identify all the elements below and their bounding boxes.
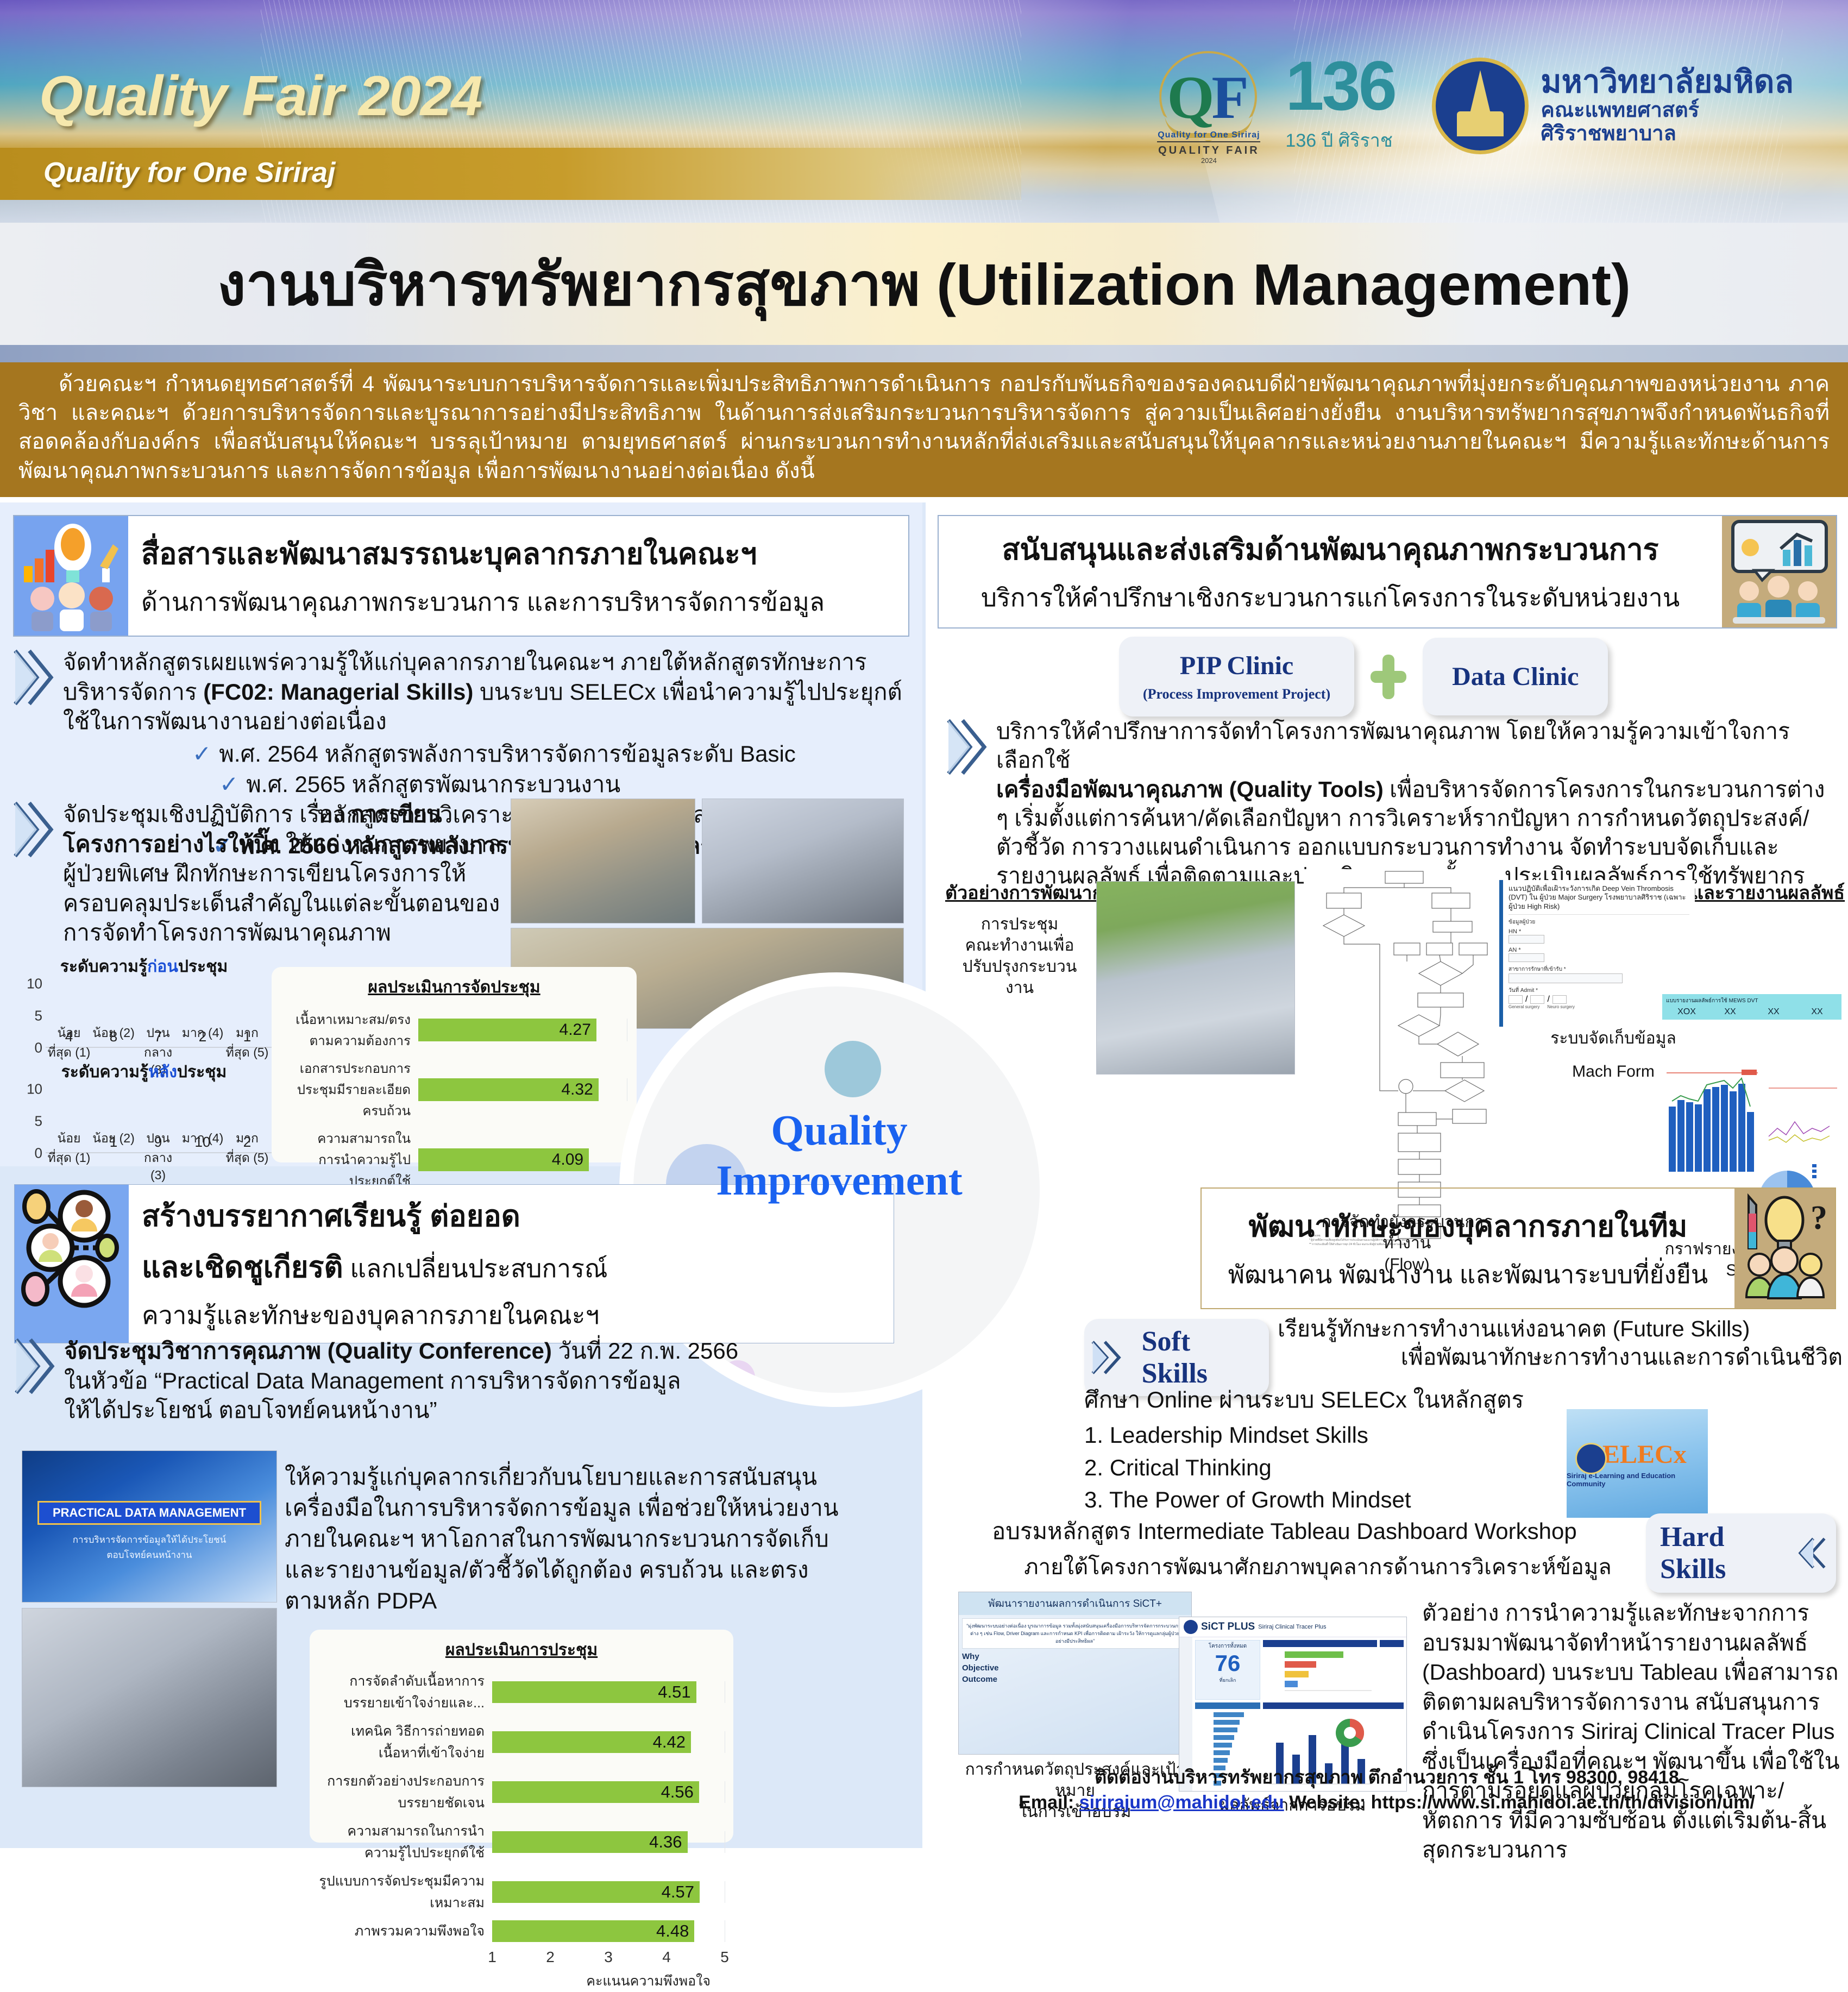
bar-value-label: 4.56 (661, 1782, 694, 1802)
tr-header-wrap: สนับสนุนและส่งเสริมด้านพัฒนาคุณภาพกระบวน… (938, 515, 1837, 629)
bar-value-label: 4.57 (662, 1882, 694, 1902)
bar: 4.51 (492, 1681, 696, 1703)
section-title: พัฒนาทักษะของบุคลากรภายในทีม (1249, 1203, 1688, 1249)
section-header-communication: สื่อสารและพัฒนาสมรรถนะบุคลากรภายในคณะฯ ด… (13, 515, 909, 637)
footer-email-link[interactable]: sirirajum@mahidol.edu (1079, 1792, 1284, 1813)
bar: 4.32 (418, 1078, 599, 1101)
hard-skills-body: ตัวอย่าง การนำความรู้และทักษะจากการอบรมม… (1422, 1598, 1847, 1865)
mahidol-seal-icon (1432, 58, 1529, 154)
workshop-photo-1 (511, 799, 695, 923)
bar-track: 4.42 (492, 1731, 725, 1753)
x-tick: 2 (546, 1949, 555, 1966)
section-subtitle: พัฒนาคน พัฒนางาน และพัฒนาระบบที่ยั่งยืน (1228, 1255, 1708, 1295)
clinic-subtitle: (Process Improvement Project) (1143, 686, 1330, 702)
online-intro: ศึกษา Online ผ่านระบบ SELECx ในหลักสูตร (1084, 1382, 1524, 1418)
bar-category-label: เทคนิค วิธีการถ่ายทอดเนื้อหาที่เข้าใจง่า… (318, 1720, 492, 1764)
selecx-seal-icon (1575, 1443, 1607, 1474)
chevron-bullet-icon (946, 717, 993, 777)
bullet2-text-part1: จัดประชุมเชิงปฏิบัติการ เรื่อง (63, 801, 351, 827)
bar-track: 4.56 (492, 1781, 725, 1803)
caption-meeting: การประชุม คณะทำงานเพื่อ ปรับปรุงกระบวนงา… (952, 914, 1088, 998)
form-select-specialty[interactable] (1508, 973, 1623, 983)
chart-row: การยกตัวอย่างประกอบการบรรยายชัดเจน4.56 (318, 1770, 725, 1814)
chart-knowledge-after: ระดับความรู้หลังประชุม 10 5 0 19102 น้อย… (16, 1059, 272, 1152)
x-tick: 4 (662, 1949, 671, 1966)
form-field-label: HN * (1508, 928, 1689, 935)
bar: 4.09 (418, 1148, 589, 1171)
gridline (725, 1681, 725, 1703)
network-people-icon (15, 1185, 129, 1343)
dashboard-header: แบบรายงานผลลัพธ์การใช้ MEWS DVT (1666, 997, 1838, 1005)
university-name: มหาวิทยาลัยมหิดล (1541, 66, 1794, 99)
hard-skills-title: อบรมหลักสูตร Intermediate Tableau Dashbo… (992, 1513, 1644, 1549)
section-header-learning: สร้างบรรยากาศเรียนรู้ ต่อยอด และเชิดชูเก… (14, 1184, 894, 1343)
y-tick: 5 (35, 1113, 42, 1130)
x-axis-label: มาก (4) (180, 1129, 225, 1183)
section-title-line2-bold: และเชิดชูเกียรติ (142, 1251, 343, 1284)
x-axis-label: มากที่สุด (5) (225, 1129, 269, 1183)
chevron-bullet-icon (13, 800, 60, 859)
conference-audience-photo (22, 1608, 277, 1787)
soft-line2: เพื่อพัฒนาทักษะการทำงานและการดำเนินชีวิต (1278, 1343, 1843, 1371)
tl-header-wrap: สื่อสารและพัฒนาสมรรถนะบุคลากรภายในคณะฯ ด… (13, 515, 909, 637)
dash-brand: SiCT PLUS (1201, 1621, 1255, 1633)
caption-machform-line2: Mach Form (1537, 1061, 1689, 1082)
chart-row: เอกสารประกอบการประชุมมีรายละเอียดครบถ้วน… (281, 1058, 627, 1121)
hard-skills-pill: Hard Skills (1646, 1513, 1836, 1593)
dash-brand-sub: Siriraj Clinical Tracer Plus (1258, 1624, 1326, 1630)
hard-skills-subtitle: ภายใต้โครงการพัฒนาศักยภาพบุคลากรด้านการว… (992, 1549, 1644, 1584)
y-tick: 0 (35, 1040, 42, 1057)
bar-track: 4.48 (492, 1920, 725, 1942)
qf-logo-year: 2024 (1157, 156, 1260, 165)
chart-title-suffix: ประชุม (177, 1063, 227, 1081)
section-title-line2-rest: แลกเปลี่ยนประสบการณ์ (343, 1254, 608, 1283)
faculty-name: คณะแพทยศาสตร์ (1541, 99, 1794, 123)
tableau-section-label: Outcome (962, 1675, 1188, 1684)
slide-title: PRACTICAL DATA MANAGEMENT (37, 1501, 261, 1525)
bar-value-label: 4.27 (560, 1021, 591, 1039)
bar: 4.57 (492, 1881, 700, 1903)
tableau-slide-title: พัฒนารายงานผลการดำเนินการ SiCT+ (959, 1592, 1191, 1615)
dashboard-cell: XX (1796, 1007, 1838, 1017)
footer-line1: ติดต่องานบริหารทรัพยากรสุขภาพ ตึกอำนวยกา… (926, 1765, 1848, 1790)
course-item: 3. The Power of Growth Mindset (1084, 1484, 1411, 1516)
course-item: 1. Leadership Mindset Skills (1084, 1419, 1411, 1451)
bar-value-label: 4.36 (649, 1832, 682, 1852)
bar: 4.27 (418, 1019, 596, 1041)
footer-contact: ติดต่องานบริหารทรัพยากรสุขภาพ ตึกอำนวยกา… (926, 1765, 1848, 1815)
slide-sub2: ตอบโจทย์คนหน้างาน (37, 1548, 261, 1562)
x-axis-title: คะแนนความพึงพอใจ (318, 1970, 725, 1992)
bar: 4.42 (492, 1731, 691, 1753)
data-clinic-card[interactable]: Data Clinic (1423, 638, 1608, 715)
meeting-group-photo (1096, 881, 1295, 1074)
bl-header-wrap: สร้างบรรยากาศเรียนรู้ ต่อยอด และเชิดชูเก… (14, 1184, 894, 1343)
chart-title-prefix: ระดับความรู้ (61, 1063, 148, 1081)
section-subtitle: บริการให้คำปรึกษาเชิงกระบวนการแก่โครงการ… (981, 578, 1680, 618)
chart-row: การจัดลำดับเนื้อหาการบรรยายเข้าใจง่ายและ… (318, 1670, 725, 1714)
tl-bullet-2: จัดประชุมเชิงปฏิบัติการ เรื่อง การเขียนโ… (13, 800, 502, 948)
section-title: สื่อสารและพัฒนาสมรรถนะบุคลากรภายในคณะฯ (141, 530, 895, 577)
form-field-label: วันที่ Admit * (1508, 986, 1689, 995)
bar-category-label: เอกสารประกอบการประชุมมีรายละเอียดครบถ้วน (281, 1058, 418, 1121)
form-input-an[interactable] (1508, 953, 1544, 962)
bl-body-text: ให้ความรู้แก่บุคลากรเกี่ยวกับนโยบายและกา… (285, 1461, 844, 1617)
chart-title: ผลประเมินการจัดประชุม (272, 967, 637, 1000)
chevron-bullet-icon (14, 1336, 61, 1396)
y-axis-ticks: 10 5 0 (16, 984, 46, 1048)
bar-category-label: รูปแบบการจัดประชุมมีความเหมาะสม (318, 1870, 492, 1914)
y-tick: 0 (35, 1145, 42, 1162)
conference-topic-line3: ให้ได้ประโยชน์ ตอบโจทย์คนหน้างาน” (64, 1397, 437, 1423)
caption-machform: ระบบจัดเก็บข้อมูล Mach Form (1537, 1028, 1689, 1082)
section-title: สนับสนุนและส่งเสริมด้านพัฒนาคุณภาพกระบวน… (1002, 526, 1658, 573)
footer-email-prefix: Email: (1019, 1792, 1079, 1813)
bar: 4.48 (492, 1920, 694, 1942)
quality-fair-logo-icon: Q F Quality for One Siriraj QUALITY FAIR… (1155, 49, 1264, 163)
bar-value-label: 4.09 (552, 1151, 583, 1169)
checklist-item-label: พ.ศ. 2564 หลักสูตรพลังการบริหารจัดการข้อ… (219, 741, 796, 766)
form-heading: แนวปฏิบัติเพื่อเฝ้าระวังการเกิด Deep Vei… (1508, 884, 1689, 911)
decorative-dot-blue (825, 1041, 881, 1097)
event-tagline: Quality for One Siriraj (43, 156, 335, 189)
chart-knowledge-before: ระดับความรู้ก่อนประชุม 10 5 0 48721 น้อย… (16, 954, 272, 1046)
bar-track: 4.36 (492, 1831, 725, 1853)
bl-bullet: จัดประชุมวิชาการคุณภาพ (Quality Conferen… (14, 1336, 883, 1425)
chart-row: เนื้อหาเหมาะสม/ตรงตามความต้องการ4.27 (281, 1009, 627, 1051)
conference-date: วันที่ 22 ก.พ. 2566 (552, 1338, 738, 1363)
bar-track: 4.32 (418, 1078, 627, 1101)
page-title-strip: งานบริหารทรัพยากรสุขภาพ (Utilization Man… (0, 223, 1848, 345)
bar-track: 4.51 (492, 1681, 725, 1703)
conference-slide-photo: PRACTICAL DATA MANAGEMENT การบริหารจัดกา… (22, 1450, 277, 1603)
hospital-name: ศิริราชพยาบาล (1541, 122, 1794, 146)
anniversary-number: 136 (1285, 52, 1410, 121)
section-subtitle: ด้านการพัฒนาคุณภาพกระบวนการ และการบริหาร… (141, 582, 895, 622)
x-tick: 3 (604, 1949, 613, 1966)
chart-row: ความสามารถในการนำความรู้ไปประยุกต์ใช้4.0… (281, 1128, 627, 1191)
pip-clinic-card[interactable]: PIP Clinic (Process Improvement Project) (1119, 637, 1354, 717)
footer-website: https://www.si.mahidol.ac.th/th/division… (1371, 1792, 1755, 1813)
tr-body-bold: เครื่องมือพัฒนาคุณภาพ (Quality Tools) (996, 777, 1384, 802)
page-title: งานบริหารทรัพยากรสุขภาพ (Utilization Man… (217, 237, 1631, 331)
checklist-item-label: พ.ศ. 2565 หลักสูตรพัฒนากระบวนงาน (246, 771, 620, 797)
chart-workshop-evaluation: ผลประเมินการจัดประชุม เนื้อหาเหมาะสม/ตรง… (272, 967, 637, 1162)
check-icon: ✓ (219, 771, 238, 797)
pencil-lightbulb-question-icon: ? (1734, 1189, 1835, 1308)
bar-category-label: เนื้อหาเหมาะสม/ตรงตามความต้องการ (281, 1009, 418, 1051)
qi-line-1: Quality (622, 1105, 1057, 1155)
y-tick: 10 (27, 1081, 42, 1098)
chart-title-highlight: ก่อน (147, 958, 178, 976)
dashboard-cell: XX (1753, 1007, 1794, 1017)
event-title: Quality Fair 2024 (39, 64, 482, 129)
bar-category-label: ความสามารถในการนำความรู้ไปประยุกต์ใช้ (318, 1820, 492, 1864)
tableau-section-label: Objective (962, 1663, 1188, 1673)
bar-value-label: 4.48 (656, 1921, 689, 1941)
x-tick: 5 (720, 1949, 729, 1966)
bar-track: 4.57 (492, 1881, 725, 1903)
slide-sub1: การบริหารจัดการข้อมูลให้ได้ประโยชน์ (37, 1532, 261, 1547)
workshop-photo-2 (702, 799, 904, 923)
caption-machform-line1: ระบบจัดเก็บข้อมูล (1537, 1028, 1689, 1049)
chart-conference-evaluation: ผลประเมินการประชุม การจัดลำดับเนื้อหาการ… (310, 1630, 733, 1843)
chevron-bullet-icon (13, 648, 60, 707)
bar: 4.56 (492, 1781, 699, 1803)
clinic-cards-row: PIP Clinic (Process Improvement Project)… (1119, 637, 1608, 717)
intro-section: ด้วยคณะฯ กำหนดยุทธศาสตร์ที่ 4 พัฒนาระบบก… (0, 362, 1848, 497)
check-icon: ✓ (192, 741, 211, 766)
anniversary-caption: 136 ปี ศิริราช (1285, 125, 1410, 155)
form-field-label: AN * (1508, 947, 1689, 953)
y-tick: 10 (27, 976, 42, 992)
team-presentation-icon (1722, 516, 1836, 627)
tr-bullet: บริการให้คำปรึกษาการจัดทำโครงการพัฒนาคุณ… (946, 717, 1832, 891)
svg-text:?: ? (1811, 1199, 1827, 1236)
br-header-wrap: พัฒนาทักษะของบุคลากรภายในทีม พัฒนาคน พัฒ… (1200, 1187, 1836, 1309)
x-axis-label: ปานกลาง (3) (136, 1129, 180, 1183)
bar-category-label: ภาพรวมความพึงพอใจ (318, 1920, 492, 1942)
hard-skills-titles: อบรมหลักสูตร Intermediate Tableau Dashbo… (992, 1513, 1644, 1584)
hard-skills-label: Hard Skills (1660, 1521, 1778, 1585)
qi-line-2: Improvement (622, 1155, 1057, 1205)
bar-value-label: 4.51 (658, 1682, 690, 1702)
x-axis-label: น้อย (2) (91, 1129, 136, 1183)
conference-topic-line2: ในหัวข้อ “Practical Data Management การบ… (64, 1368, 681, 1393)
dash-label-projects: โครงการทั้งหมด (1197, 1642, 1258, 1650)
bar-value-label: 4.42 (653, 1732, 686, 1752)
chart-row: เทคนิค วิธีการถ่ายทอดเนื้อหาที่เข้าใจง่า… (318, 1720, 725, 1764)
tableau-slide-quote: “มุ่งพัฒนาระบบอย่างต่อเนื่อง บูรณาการข้อ… (962, 1618, 1188, 1649)
dashboard-cell: XX (1709, 1007, 1751, 1017)
chart-title: ผลประเมินการประชุม (310, 1630, 733, 1663)
title-underline-decoration (0, 345, 1848, 362)
chart-title-highlight: หลัง (148, 1063, 177, 1081)
bar-category-label: การจัดลำดับเนื้อหาการบรรยายเข้าใจง่ายและ… (318, 1670, 492, 1714)
gridline (725, 1881, 725, 1903)
gridline (725, 1920, 725, 1942)
anniversary-logo-icon: 136 136 ปี ศิริราช (1285, 52, 1410, 160)
gridline (725, 1781, 725, 1803)
chart-row: รูปแบบการจัดประชุมมีความเหมาะสม4.57 (318, 1870, 725, 1914)
chart-row: ภาพรวมความพึงพอใจ4.48 (318, 1920, 725, 1942)
footer-website-prefix: Website: (1284, 1792, 1371, 1813)
gridline (627, 1019, 627, 1041)
x-axis: 12345 (318, 1949, 725, 1970)
chevron-right-icon (1090, 1337, 1136, 1378)
soft-line1: เรียนรู้ทักษะการทำงานแห่งอนาคต (Future S… (1278, 1315, 1843, 1343)
y-axis-ticks: 10 5 0 (16, 1089, 46, 1153)
online-courses-list: 1. Leadership Mindset Skills 2. Critical… (1084, 1419, 1411, 1516)
section-subtitle: ความรู้และทักษะของบุคลากรภายในคณะฯ (142, 1296, 881, 1335)
dash-big-number: 76 (1197, 1650, 1258, 1676)
tableau-objective-slide: พัฒนารายงานผลการดำเนินการ SiCT+ “มุ่งพัฒ… (958, 1592, 1192, 1755)
mahidol-logo: มหาวิทยาลัยมหิดล คณะแพทยศาสตร์ ศิริราชพย… (1432, 58, 1794, 154)
bar-track: 4.09 (418, 1148, 627, 1171)
chart-title-prefix: ระดับความรู้ (60, 958, 147, 976)
plus-icon (1371, 655, 1406, 699)
header-logos: Q F Quality for One Siriraj QUALITY FAIR… (1155, 49, 1794, 163)
chart-title-suffix: ประชุม (178, 958, 228, 976)
bar-track: 4.27 (418, 1019, 627, 1041)
section-header-process-support: สนับสนุนและส่งเสริมด้านพัฒนาคุณภาพกระบวน… (938, 515, 1837, 629)
qf-logo-caption: QUALITY FAIR (1157, 141, 1260, 157)
clinic-name: PIP Clinic (1143, 651, 1330, 681)
bar-value-label: 4.32 (561, 1080, 593, 1099)
dashboard-cell: XOX (1666, 1007, 1707, 1017)
bar-category-label: ความสามารถในการนำความรู้ไปประยุกต์ใช้ (281, 1128, 418, 1191)
x-axis-label: น้อยที่สุด (1) (47, 1129, 91, 1183)
course-item: 2. Critical Thinking (1084, 1451, 1411, 1484)
chevron-left-icon (1783, 1533, 1828, 1573)
tableau-section-label: Why (962, 1652, 1188, 1661)
qf-logo-tagline: Quality for One Siriraj (1157, 130, 1260, 140)
form-field-label: สาขาการรักษาที่เข้ารับ * (1508, 965, 1689, 973)
header-banner: Quality Fair 2024 Quality for One Sirira… (0, 0, 1848, 223)
center-circle-text: Quality Improvement (622, 1105, 1057, 1205)
clinic-name: Data Clinic (1452, 662, 1579, 692)
gridline (725, 1831, 725, 1853)
intro-paragraph: ด้วยคณะฯ กำหนดยุทธศาสตร์ที่ 4 พัฒนาระบบก… (18, 370, 1830, 486)
soft-skills-desc: เรียนรู้ทักษะการทำงานแห่งอนาคต (Future S… (1278, 1315, 1843, 1372)
y-tick: 5 (35, 1008, 42, 1025)
tr-body-part1: บริการให้คำปรึกษาการจัดทำโครงการพัฒนาคุณ… (996, 719, 1790, 772)
soft-skills-label: Soft Skills (1142, 1325, 1255, 1390)
chart-row: ความสามารถในการนำความรู้ไปประยุกต์ใช้4.3… (318, 1820, 725, 1864)
conference-title: จัดประชุมวิชาการคุณภาพ (Quality Conferen… (64, 1338, 552, 1363)
bar: 4.36 (492, 1831, 688, 1853)
x-tick: 1 (488, 1949, 496, 1966)
bar-category-label: การยกตัวอย่างประกอบการบรรยายชัดเจน (318, 1770, 492, 1814)
gridline (627, 1078, 627, 1101)
dash-label-unit: ที่ยกเลิก (1197, 1676, 1258, 1684)
section-header-team-skills: พัฒนาทักษะของบุคลากรภายในทีม พัฒนาคน พัฒ… (1200, 1187, 1836, 1309)
gridline (725, 1731, 725, 1753)
bullet-text-bold: (FC02: Managerial Skills) (203, 679, 473, 705)
selecx-logo: SELECx Siriraj e-Learning and Education … (1567, 1409, 1708, 1518)
form-input-hn[interactable] (1508, 935, 1544, 944)
people-chart-lightbulb-icon (14, 516, 128, 636)
